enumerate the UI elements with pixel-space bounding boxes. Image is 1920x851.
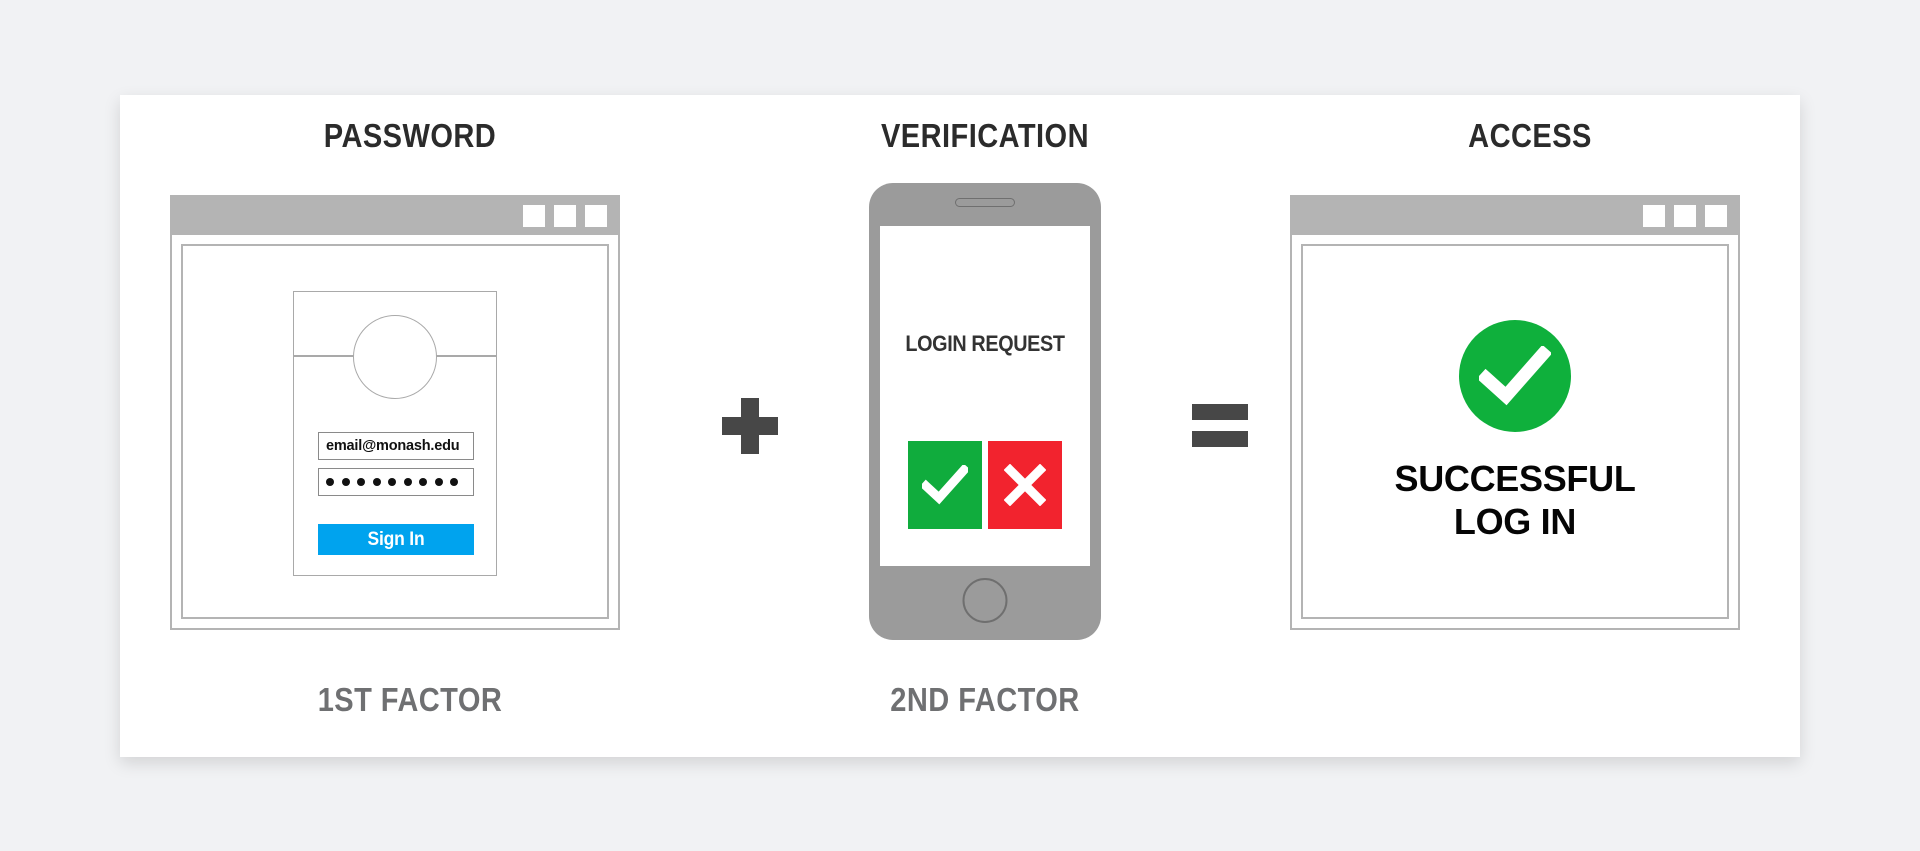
maximize-button-icon[interactable]: [1674, 205, 1696, 227]
verification-footer-label: 2ND FACTOR: [840, 681, 1130, 719]
success-message-line-2: LOG IN: [1394, 501, 1635, 543]
equals-icon: [1192, 404, 1248, 448]
password-footer-label: 1ST FACTOR: [181, 681, 639, 719]
browser-titlebar: [1292, 197, 1738, 235]
phone-action-buttons: [880, 441, 1090, 529]
maximize-button-icon[interactable]: [554, 205, 576, 227]
home-button-icon[interactable]: [963, 578, 1008, 623]
verification-heading: VERIFICATION: [840, 117, 1130, 155]
password-field[interactable]: [318, 468, 474, 496]
page-root: PASSWORD email@monash.edu: [0, 0, 1920, 851]
check-icon: [922, 465, 968, 505]
password-dot: [357, 478, 365, 486]
password-dot: [388, 478, 396, 486]
column-equals-operator: [1150, 95, 1290, 757]
password-dot: [450, 478, 458, 486]
success-content: SUCCESSFUL LOG IN: [1303, 246, 1727, 617]
password-dot: [404, 478, 412, 486]
email-field[interactable]: email@monash.edu: [318, 432, 474, 460]
close-button-icon[interactable]: [1705, 205, 1727, 227]
login-form-card: email@monash.edu: [293, 291, 497, 576]
browser-viewport: SUCCESSFUL LOG IN: [1301, 244, 1729, 619]
column-password: PASSWORD email@monash.edu: [150, 95, 670, 757]
check-circle-icon: [1459, 320, 1571, 432]
browser-titlebar: [172, 197, 618, 235]
column-access: ACCESS SUCCESSFUL: [1290, 95, 1770, 757]
password-dot: [435, 478, 443, 486]
minimize-button-icon[interactable]: [523, 205, 545, 227]
password-dot: [419, 478, 427, 486]
access-heading: ACCESS: [1319, 117, 1741, 155]
success-message: SUCCESSFUL LOG IN: [1394, 458, 1635, 542]
column-verification: VERIFICATION LOGIN REQUEST: [820, 95, 1150, 757]
password-dot: [342, 478, 350, 486]
minimize-button-icon[interactable]: [1643, 205, 1665, 227]
browser-window-login: email@monash.edu: [170, 195, 620, 630]
sign-in-button-label: Sign In: [368, 529, 425, 551]
infographic-card: PASSWORD email@monash.edu: [120, 95, 1800, 757]
success-message-line-1: SUCCESSFUL: [1394, 458, 1635, 500]
plus-icon: [722, 398, 778, 454]
phone-screen: LOGIN REQUEST: [880, 226, 1090, 566]
password-heading: PASSWORD: [181, 117, 639, 155]
password-field-value: [326, 478, 458, 486]
cross-icon: [1004, 464, 1046, 506]
user-avatar-icon: [353, 315, 437, 399]
login-request-label: LOGIN REQUEST: [891, 331, 1080, 357]
browser-window-success: SUCCESSFUL LOG IN: [1290, 195, 1740, 630]
phone-speaker-icon: [955, 198, 1015, 207]
browser-viewport: email@monash.edu: [181, 244, 609, 619]
password-dot: [326, 478, 334, 486]
deny-button[interactable]: [988, 441, 1062, 529]
check-mark-icon: [1479, 346, 1551, 406]
approve-button[interactable]: [908, 441, 982, 529]
sign-in-button[interactable]: Sign In: [318, 524, 474, 555]
mobile-phone: LOGIN REQUEST: [869, 183, 1101, 640]
password-dot: [373, 478, 381, 486]
close-button-icon[interactable]: [585, 205, 607, 227]
column-plus-operator: [680, 95, 820, 757]
email-field-value: email@monash.edu: [326, 438, 459, 454]
